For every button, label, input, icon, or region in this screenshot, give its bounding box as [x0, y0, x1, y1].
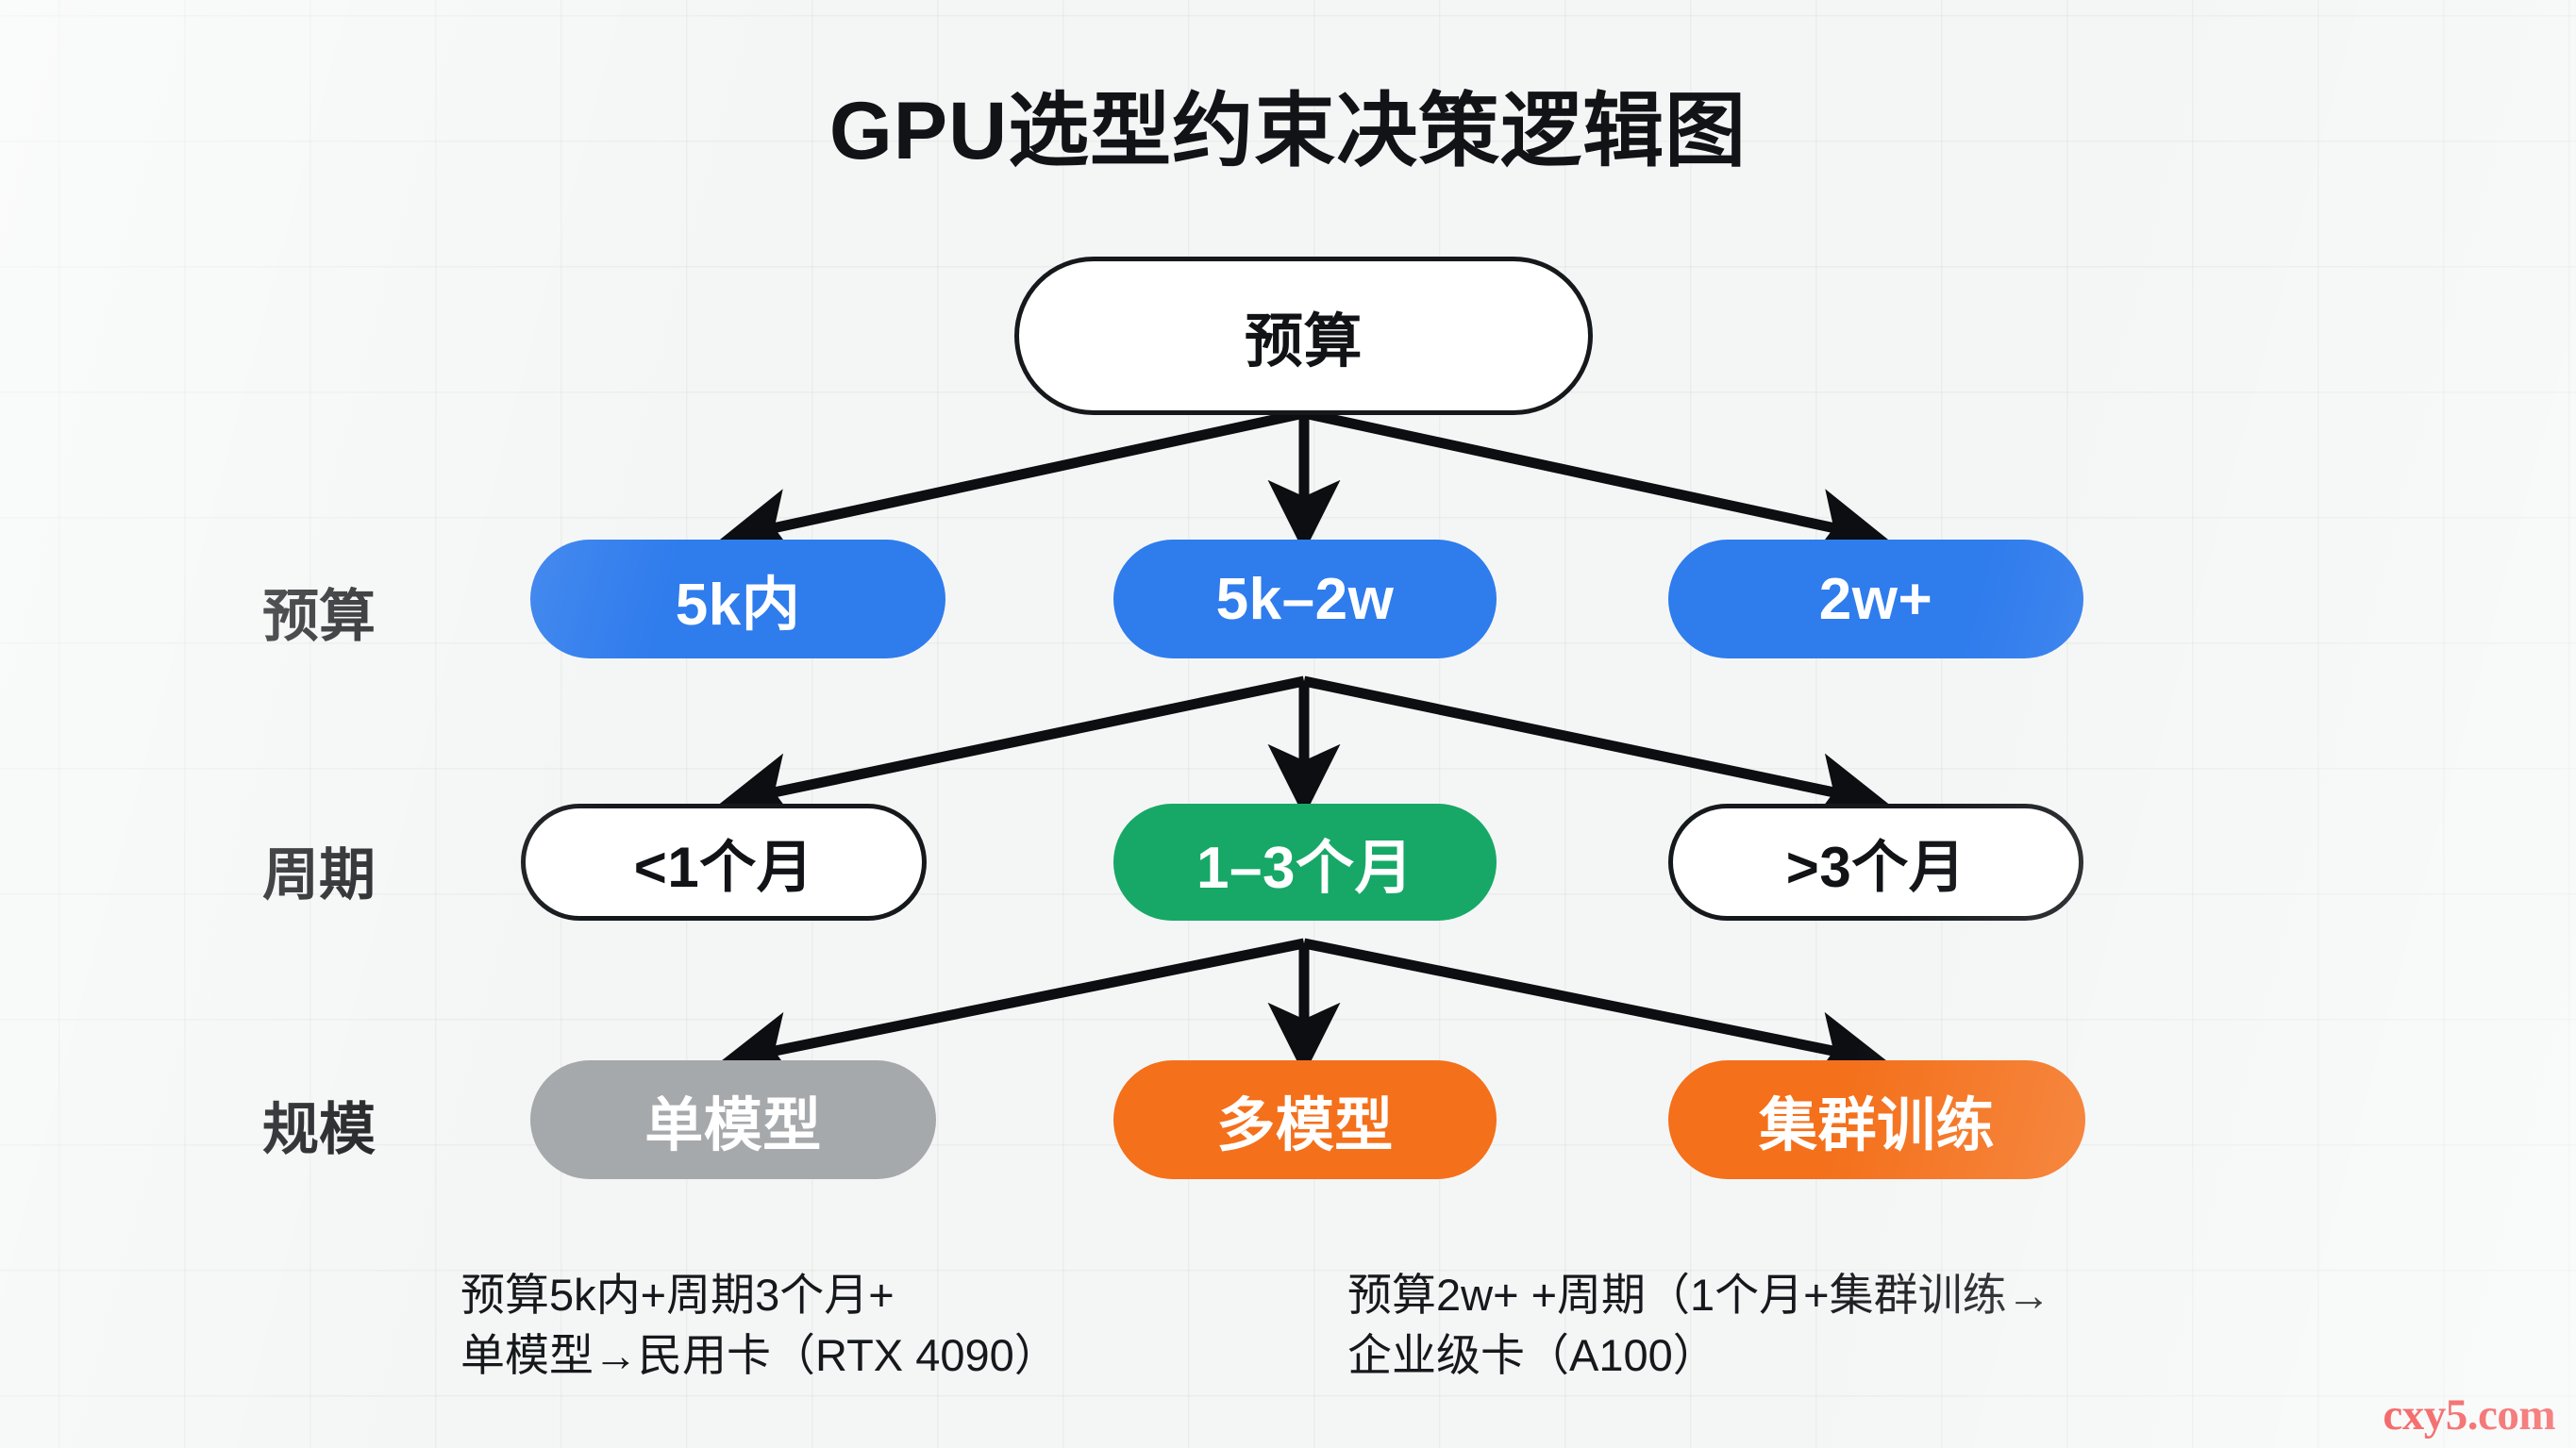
node-root-budget[interactable]: 预算: [1014, 257, 1593, 415]
node-scale-single-model[interactable]: 单模型: [530, 1060, 936, 1179]
caption-left: 预算5k内+周期3个月+ 单模型→民用卡（RTX 4090）: [460, 1265, 1310, 1386]
node-label: 5k内: [676, 557, 800, 641]
edges-from-root: [738, 413, 1870, 536]
node-label: 集群训练: [1759, 1077, 1995, 1162]
node-label: >3个月: [1786, 822, 1965, 904]
row-label-scale: 规模: [262, 1084, 376, 1166]
edges-from-budget-mid: [738, 681, 1870, 800]
node-label: 1–3个月: [1196, 820, 1413, 905]
node-scale-cluster-training[interactable]: 集群训练: [1668, 1060, 2085, 1179]
node-budget-2w-plus[interactable]: 2w+: [1668, 540, 2083, 658]
caption-right: 预算2w+ +周期（1个月+集群训练→ 企业级卡（A100）: [1347, 1265, 2291, 1386]
node-label: 单模型: [644, 1077, 822, 1162]
node-cycle-1-3-months[interactable]: 1–3个月: [1113, 804, 1497, 921]
edges-from-cycle-mid: [738, 943, 1870, 1058]
node-label: 5k–2w: [1216, 566, 1395, 633]
node-budget-under-5k[interactable]: 5k内: [530, 540, 945, 658]
node-cycle-over-3-months[interactable]: >3个月: [1668, 804, 2083, 921]
watermark: cxy5.com: [2383, 1390, 2555, 1440]
node-label: 预算: [1245, 293, 1363, 378]
row-label-cycle: 周期: [262, 829, 376, 911]
node-cycle-under-1-month[interactable]: <1个月: [521, 804, 927, 921]
node-label: 多模型: [1216, 1077, 1394, 1162]
node-label: 2w+: [1819, 566, 1932, 633]
node-label: <1个月: [634, 822, 813, 904]
node-scale-multi-model[interactable]: 多模型: [1113, 1060, 1497, 1179]
edge-layer: [0, 0, 2576, 1448]
node-budget-5k-2w[interactable]: 5k–2w: [1113, 540, 1497, 658]
diagram-canvas: GPU选型约束决策逻辑图 预算 预算 5k内 5k–2w: [0, 0, 2576, 1448]
row-label-budget: 预算: [262, 571, 376, 653]
